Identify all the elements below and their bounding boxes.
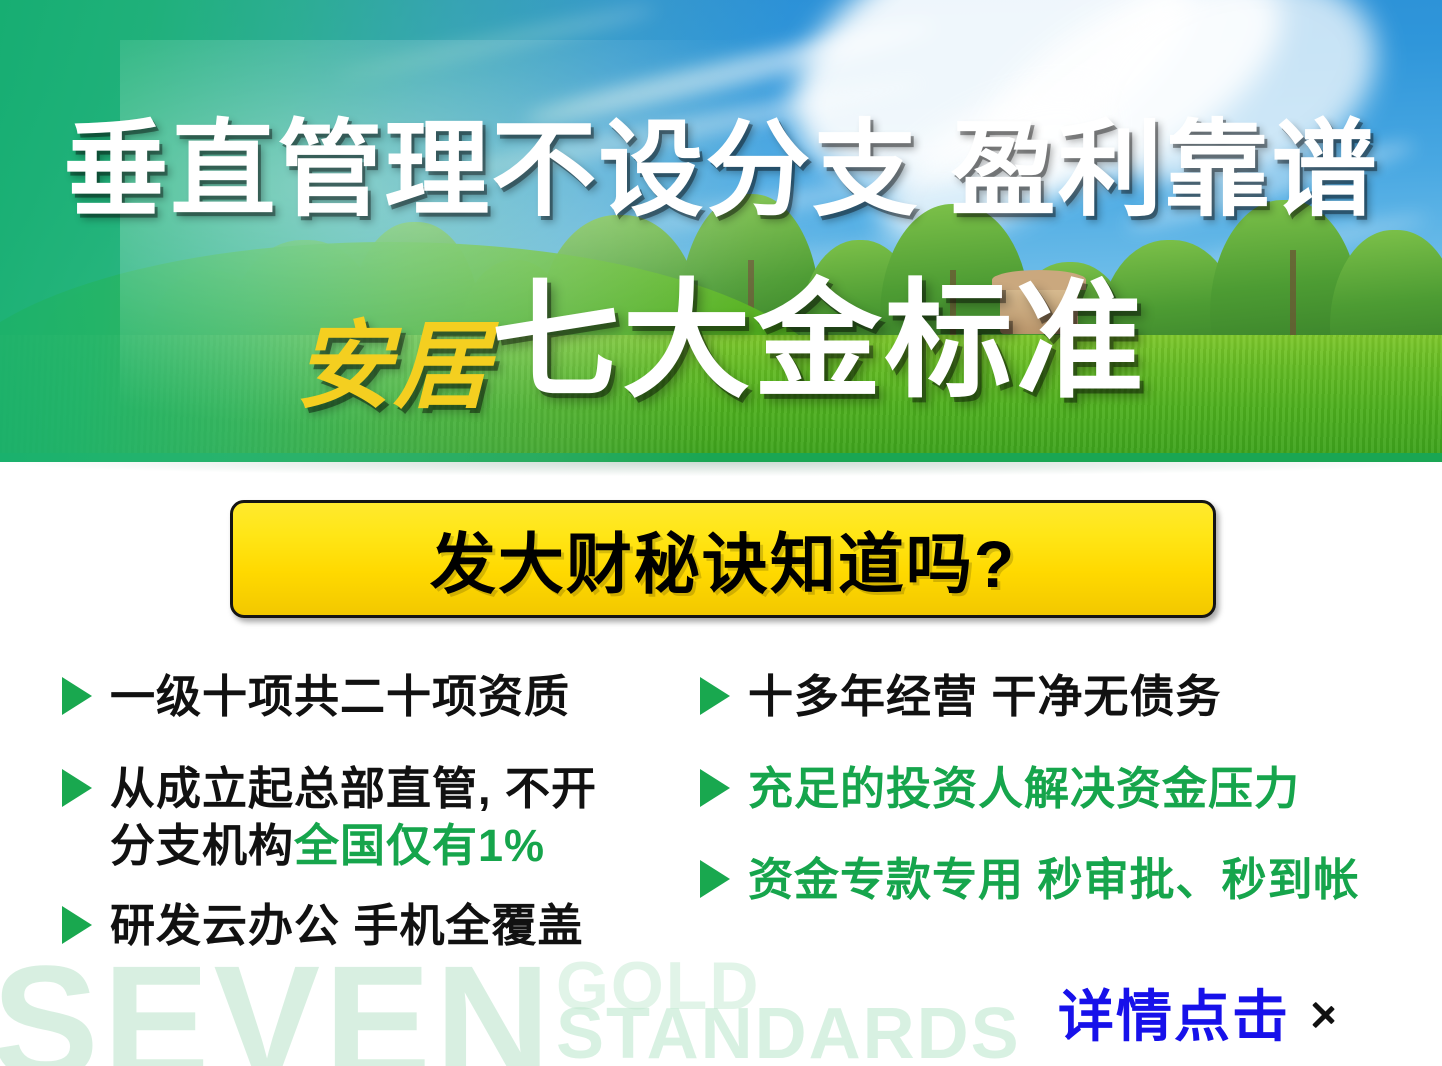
feature-column-right: 十多年经营 干净无债务 充足的投资人解决资金压力 资金专款专用 秒审批、秒到帐	[700, 668, 1420, 933]
feature-text: 充足的投资人解决资金压力	[748, 760, 1300, 818]
list-item: 研发云办公 手机全覆盖	[62, 897, 692, 955]
feature-text: 一级十项共二十项资质	[110, 668, 570, 726]
list-item: 资金专款专用 秒审批、秒到帐	[700, 851, 1420, 909]
feature-text: 研发云办公 手机全覆盖	[110, 897, 584, 955]
chevron-right-icon	[1312, 990, 1338, 1036]
triangle-bullet-icon	[62, 677, 92, 715]
list-item: 一级十项共二十项资质	[62, 668, 692, 726]
background-watermark: SEVEN GOLD STANDARDS	[0, 956, 1060, 1066]
highlight-question-text: 发大财秘诀知道吗?	[430, 511, 1016, 607]
detail-link[interactable]: 详情点击	[1058, 972, 1338, 1053]
hero-slogan-word: 七大金标准	[491, 278, 1146, 406]
list-item: 充足的投资人解决资金压力	[700, 760, 1420, 818]
hero-brand-word: 安居	[295, 318, 491, 414]
hero-subheadline: 安居七大金标准	[0, 278, 1442, 414]
watermark-standards: STANDARDS	[556, 998, 1021, 1066]
list-item: 十多年经营 干净无债务	[700, 668, 1420, 726]
feature-text: 十多年经营 干净无债务	[748, 668, 1222, 726]
hero-banner: 垂直管理不设分支 盈利靠谱 安居七大金标准	[0, 0, 1442, 462]
list-item: 从成立起总部直管, 不开 分支机构全国仅有1%	[62, 760, 692, 875]
feature-text-highlight: 全国仅有1%	[294, 820, 545, 871]
detail-link-label: 详情点击	[1058, 972, 1290, 1053]
highlight-question-bar[interactable]: 发大财秘诀知道吗?	[230, 500, 1216, 618]
watermark-seven: SEVEN	[0, 956, 554, 1066]
feature-column-left: 一级十项共二十项资质 从成立起总部直管, 不开 分支机构全国仅有1% 研发云办公…	[62, 668, 692, 978]
feature-text: 资金专款专用 秒审批、秒到帐	[748, 851, 1360, 909]
triangle-bullet-icon	[700, 769, 730, 807]
hero-drop-shadow	[0, 462, 1442, 476]
feature-columns: 一级十项共二十项资质 从成立起总部直管, 不开 分支机构全国仅有1% 研发云办公…	[0, 668, 1442, 988]
triangle-bullet-icon	[62, 906, 92, 944]
feature-text-multiline: 从成立起总部直管, 不开 分支机构全国仅有1%	[110, 760, 597, 875]
feature-text-line2-plain: 分支机构	[110, 820, 294, 871]
triangle-bullet-icon	[62, 769, 92, 807]
ad-banner-page: 垂直管理不设分支 盈利靠谱 安居七大金标准 发大财秘诀知道吗? 一级十项共二十项…	[0, 0, 1442, 1066]
triangle-bullet-icon	[700, 677, 730, 715]
feature-text-line1: 从成立起总部直管, 不开	[110, 763, 597, 814]
hero-headline: 垂直管理不设分支 盈利靠谱	[0, 116, 1442, 225]
triangle-bullet-icon	[700, 860, 730, 898]
